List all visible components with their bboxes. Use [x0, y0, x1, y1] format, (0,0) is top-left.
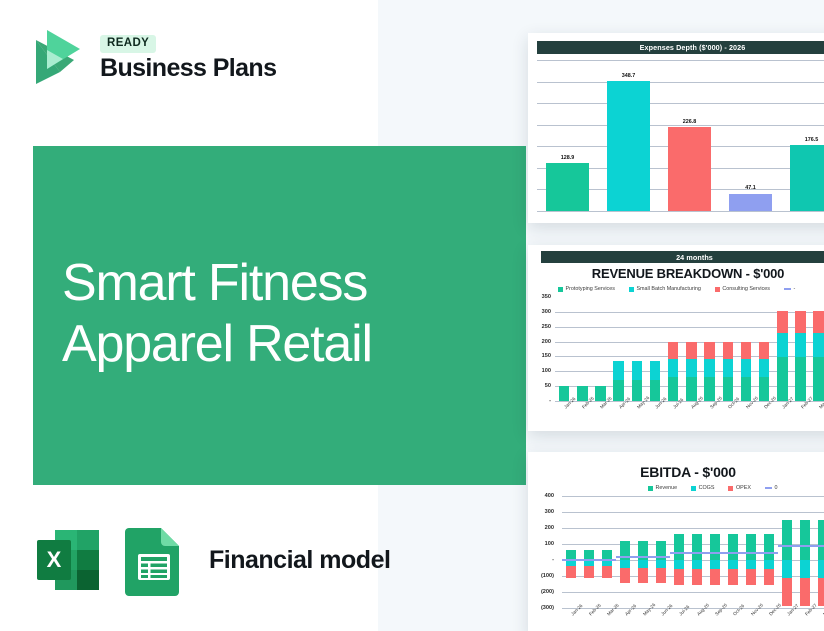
brand-lockup: READY Business Plans — [30, 26, 276, 88]
diverging-bar — [782, 496, 792, 608]
bar-segment — [818, 578, 824, 606]
bar-segment — [686, 342, 697, 359]
zero-reference-line — [742, 552, 760, 553]
bar-segment — [818, 560, 824, 578]
bar-segment — [613, 361, 624, 379]
bar-segment — [741, 377, 752, 401]
legend-item: Prototyping Services — [558, 286, 615, 292]
zero-reference-line — [562, 559, 580, 560]
bar-segment — [638, 568, 648, 583]
zero-reference-line — [688, 552, 706, 553]
legend-item: OPEX — [728, 485, 750, 491]
legend-swatch — [629, 287, 634, 292]
y-axis-tick: 300 — [528, 309, 551, 315]
zero-reference-line — [796, 545, 814, 546]
y-axis-tick: (100) — [528, 573, 554, 579]
diverging-bar — [566, 496, 576, 608]
bar — [729, 194, 772, 212]
y-axis-tick: 300 — [528, 509, 554, 515]
bar-segment — [764, 560, 774, 569]
stacked-bar — [759, 297, 770, 401]
bar-segment — [759, 342, 770, 359]
diverging-bar — [818, 496, 824, 608]
bar-value-label: 47.1 — [745, 185, 756, 191]
play-triangle-logo-icon — [30, 26, 86, 88]
bar-value-label: 128.9 — [561, 155, 575, 161]
legend-swatch — [728, 486, 733, 491]
legend-swatch — [558, 287, 563, 292]
bar-segment — [723, 377, 734, 401]
bar-segment — [759, 359, 770, 377]
grid-line — [537, 103, 824, 104]
legend-swatch — [648, 486, 653, 491]
bar-segment — [813, 311, 824, 332]
bar-segment — [813, 357, 824, 401]
y-axis-tick: 50 — [528, 383, 551, 389]
stacked-bar — [813, 297, 824, 401]
stacked-bar — [777, 297, 788, 401]
bar-segment — [613, 380, 624, 401]
page-title: Smart Fitness Apparel Retail — [62, 253, 502, 376]
chart-title: REVENUE BREAKDOWN - $'000 — [528, 266, 824, 281]
bar-segment — [813, 333, 824, 357]
stacked-bar — [559, 297, 570, 401]
stacked-bar — [795, 297, 806, 401]
chart-revenue-breakdown: 24 months REVENUE BREAKDOWN - $'000 Prot… — [528, 245, 824, 431]
chart-title: EBITDA - $'000 — [528, 464, 824, 480]
bar-segment — [777, 357, 788, 401]
bar-segment — [674, 569, 684, 584]
legend-item: Revenue — [648, 485, 677, 491]
legend-item: - — [784, 286, 795, 292]
stacked-bar — [668, 297, 679, 401]
page-title-line-2: Apparel Retail — [62, 314, 502, 375]
chart-plot-area: 35030025020015010050-Jan-26Feb-26Mar-26A… — [555, 297, 824, 401]
bar-segment — [777, 333, 788, 357]
y-axis-tick: 100 — [528, 368, 551, 374]
legend-swatch — [784, 288, 791, 290]
bar-segment — [704, 359, 715, 377]
y-axis-tick: (300) — [528, 605, 554, 611]
bar-segment — [650, 361, 661, 379]
legend-swatch — [691, 486, 696, 491]
bar-segment — [764, 569, 774, 584]
bar-value-label: 176.5 — [805, 137, 819, 143]
bar-segment — [746, 534, 756, 560]
bar-segment — [638, 560, 648, 568]
bar-segment — [795, 333, 806, 357]
diverging-bar — [584, 496, 594, 608]
grid-line — [537, 60, 824, 61]
bar — [790, 145, 824, 211]
microsoft-excel-icon: X — [33, 524, 105, 596]
bar-segment — [795, 311, 806, 332]
chart-card-ebitda[interactable]: EBITDA - $'000 RevenueCOGSOPEX0 40030020… — [528, 452, 824, 631]
stacked-bar — [577, 297, 588, 401]
legend-swatch — [715, 287, 720, 292]
diverging-bar — [800, 496, 810, 608]
bar-segment — [746, 560, 756, 569]
grid-line — [562, 608, 824, 609]
ready-badge: READY — [100, 35, 156, 53]
bar-segment — [782, 520, 792, 560]
bar-segment — [710, 534, 720, 560]
bar-segment — [795, 357, 806, 401]
legend-item: Small Batch Manufacturing — [629, 286, 701, 292]
chart-plot-area: 400300200100-(100)(200)(300)Jan-26Feb-26… — [562, 496, 824, 608]
chart-card-expenses-depth[interactable]: Expenses Depth ($'000) - 2026 128.9348.7… — [528, 33, 824, 223]
y-axis-tick: (200) — [528, 589, 554, 595]
legend-item: Consulting Services — [715, 286, 770, 292]
chart-legend: RevenueCOGSOPEX0 — [648, 485, 777, 491]
bar-segment — [584, 566, 594, 578]
bar-segment — [741, 342, 752, 359]
stacked-bar — [723, 297, 734, 401]
bar-segment — [559, 386, 570, 401]
y-axis-tick: - — [528, 398, 551, 404]
format-label: Financial model — [209, 546, 390, 575]
bar-segment — [632, 361, 643, 379]
zero-reference-line — [778, 545, 796, 546]
bar-segment — [566, 566, 576, 578]
chart-ebitda: EBITDA - $'000 RevenueCOGSOPEX0 40030020… — [528, 452, 824, 631]
bar-segment — [692, 569, 702, 584]
bar-segment — [686, 359, 697, 377]
bar-segment — [674, 560, 684, 569]
bar-segment — [723, 342, 734, 359]
y-axis-tick: 200 — [528, 525, 554, 531]
bar-segment — [723, 359, 734, 377]
grid-line — [537, 82, 824, 83]
legend-label: Consulting Services — [722, 286, 770, 292]
bar-segment — [710, 569, 720, 584]
legend-label: OPEX — [736, 485, 751, 491]
legend-label: 0 — [774, 485, 777, 491]
y-axis-tick: 150 — [528, 353, 551, 359]
bar-segment — [602, 566, 612, 578]
legend-item: COGS — [691, 485, 714, 491]
bar — [668, 127, 711, 211]
bar-segment — [595, 386, 606, 401]
chart-plot-area: 128.9348.7226.847.1176.5 — [537, 60, 824, 211]
y-axis-tick: 350 — [528, 294, 551, 300]
bar-segment — [818, 520, 824, 560]
bar-segment — [800, 578, 810, 606]
y-axis-tick: 400 — [528, 493, 554, 499]
zero-reference-line — [634, 556, 652, 557]
bar-value-label: 226.8 — [683, 119, 697, 125]
stacked-bar — [650, 297, 661, 401]
bar-segment — [782, 560, 792, 578]
y-axis-tick: 200 — [528, 339, 551, 345]
bar-segment — [620, 560, 630, 568]
bar-segment — [674, 534, 684, 560]
bar-segment — [741, 359, 752, 377]
bar-segment — [650, 380, 661, 401]
stacked-bar — [704, 297, 715, 401]
y-axis-tick: 100 — [528, 541, 554, 547]
bar-segment — [632, 380, 643, 401]
grid-line — [537, 125, 824, 126]
diverging-bar — [620, 496, 630, 608]
brand-name: Business Plans — [100, 55, 276, 81]
legend-item: 0 — [765, 485, 778, 491]
grid-line — [537, 211, 824, 212]
legend-label: Small Batch Manufacturing — [636, 286, 700, 292]
bar-segment — [800, 520, 810, 560]
zero-reference-line — [814, 545, 824, 546]
slide-canvas: READY Business Plans Smart Fitness Appar… — [0, 0, 824, 631]
stacked-bar — [632, 297, 643, 401]
chart-band-title: Expenses Depth ($'000) - 2026 — [537, 41, 824, 54]
legend-swatch — [765, 487, 772, 489]
bar-segment — [782, 578, 792, 606]
bar-segment — [728, 569, 738, 584]
bar-segment — [800, 560, 810, 578]
bar-segment — [728, 560, 738, 569]
bar-segment — [704, 377, 715, 401]
legend-label: - — [794, 286, 796, 292]
zero-reference-line — [760, 552, 778, 553]
bar-value-label: 348.7 — [622, 73, 636, 79]
format-footer: X Financial model — [33, 524, 390, 596]
zero-reference-line — [706, 552, 724, 553]
zero-reference-line — [598, 559, 616, 560]
chart-band-title: 24 months — [541, 251, 824, 263]
stacked-bar — [613, 297, 624, 401]
bar-segment — [692, 560, 702, 569]
diverging-bar — [602, 496, 612, 608]
svg-text:X: X — [47, 547, 62, 572]
zero-reference-line — [580, 559, 598, 560]
stacked-bar — [741, 297, 752, 401]
zero-reference-line — [652, 556, 670, 557]
page-title-line-1: Smart Fitness — [62, 254, 367, 312]
bar-segment — [668, 342, 679, 359]
y-axis-tick: - — [528, 557, 554, 563]
legend-label: Revenue — [656, 485, 678, 491]
diverging-bar — [656, 496, 666, 608]
bar-segment — [656, 568, 666, 583]
bar-segment — [668, 377, 679, 401]
diverging-bar — [638, 496, 648, 608]
chart-expenses-depth: Expenses Depth ($'000) - 2026 128.9348.7… — [528, 33, 824, 223]
bar-segment — [777, 311, 788, 332]
zero-reference-line — [670, 552, 688, 553]
bar-segment — [746, 569, 756, 584]
legend-label: Prototyping Services — [566, 286, 615, 292]
zero-reference-line — [616, 556, 634, 557]
bar-segment — [692, 534, 702, 560]
bar-segment — [704, 342, 715, 359]
bar-segment — [620, 568, 630, 583]
bar-segment — [686, 377, 697, 401]
y-axis-tick: 250 — [528, 324, 551, 330]
legend-label: COGS — [699, 485, 715, 491]
bar-segment — [656, 560, 666, 568]
bar-segment — [759, 377, 770, 401]
zero-reference-line — [724, 552, 742, 553]
bar-segment — [577, 386, 588, 401]
stacked-bar — [595, 297, 606, 401]
bar — [607, 81, 650, 211]
chart-legend: Prototyping ServicesSmall Batch Manufact… — [558, 286, 795, 292]
bar-segment — [668, 359, 679, 377]
bar — [546, 163, 589, 211]
google-sheets-icon — [121, 524, 187, 596]
bar-segment — [764, 534, 774, 560]
stacked-bar — [686, 297, 697, 401]
bar-segment — [728, 534, 738, 560]
bar-segment — [710, 560, 720, 569]
chart-card-revenue-breakdown[interactable]: 24 months REVENUE BREAKDOWN - $'000 Prot… — [528, 245, 824, 431]
